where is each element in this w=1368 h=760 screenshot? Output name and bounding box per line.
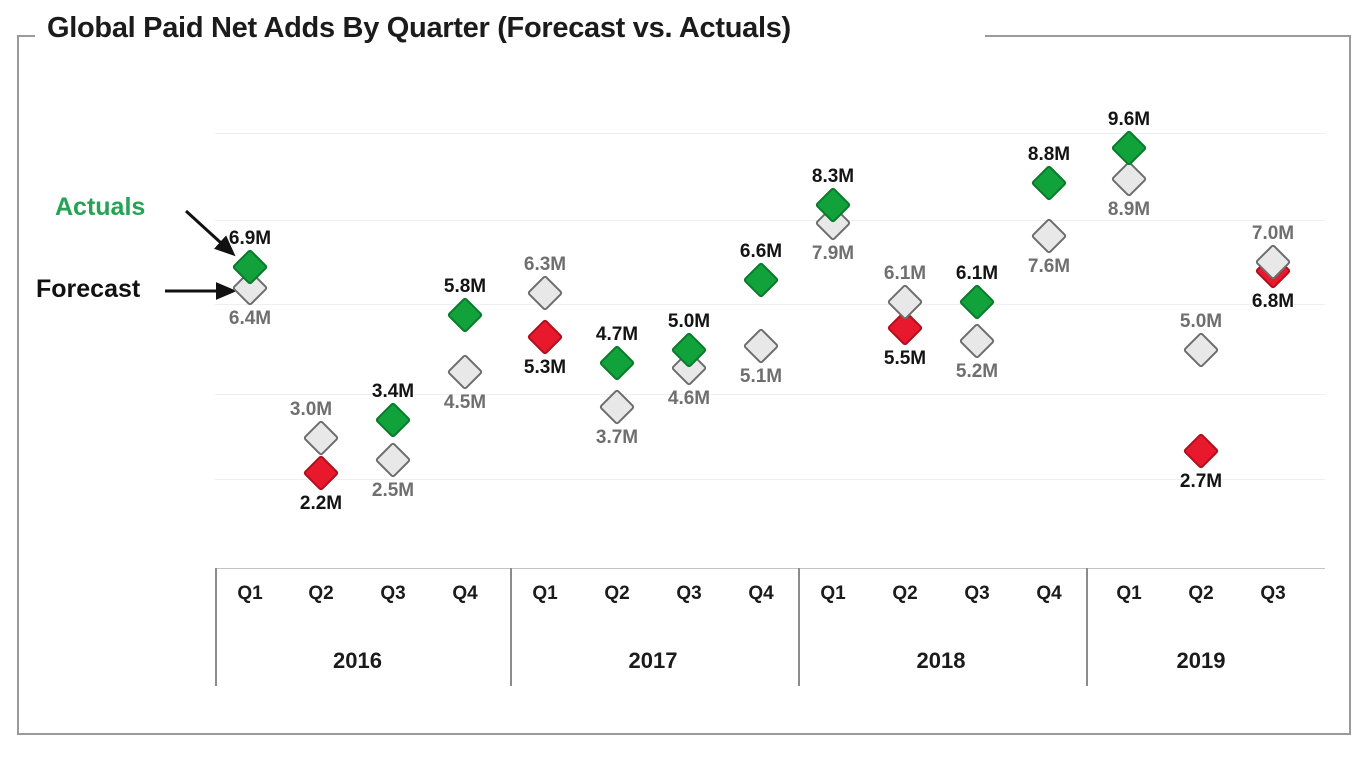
axis-quarter-label: Q1	[1116, 583, 1141, 605]
axis-group-separator	[1086, 568, 1088, 686]
axis-quarter-label: Q4	[748, 583, 773, 605]
axis-group-separator	[215, 568, 217, 686]
actuals-callout-arrow-icon	[186, 211, 232, 253]
axis-year-label: 2018	[917, 648, 966, 674]
axis-year-label: 2019	[1177, 648, 1226, 674]
axis-quarter-label: Q3	[1260, 583, 1285, 605]
axis-quarter-label: Q1	[532, 583, 557, 605]
axis-quarter-label: Q2	[604, 583, 629, 605]
axis-quarter-label: Q1	[820, 583, 845, 605]
chart-canvas: Global Paid Net Adds By Quarter (Forecas…	[0, 0, 1368, 760]
axis-quarter-label: Q3	[676, 583, 701, 605]
axis-quarter-label: Q4	[1036, 583, 1061, 605]
axis-quarter-label: Q4	[452, 583, 477, 605]
axis-quarter-label: Q3	[380, 583, 405, 605]
axis-quarter-label: Q3	[964, 583, 989, 605]
axis-top-line	[215, 568, 1325, 569]
axis-quarter-label: Q2	[308, 583, 333, 605]
axis-year-label: 2017	[629, 648, 678, 674]
axis-group-separator	[798, 568, 800, 686]
axis-quarter-label: Q2	[1188, 583, 1213, 605]
axis-quarter-label: Q2	[892, 583, 917, 605]
axis-group-separator	[510, 568, 512, 686]
axis-quarter-label: Q1	[237, 583, 262, 605]
axis-year-label: 2016	[333, 648, 382, 674]
